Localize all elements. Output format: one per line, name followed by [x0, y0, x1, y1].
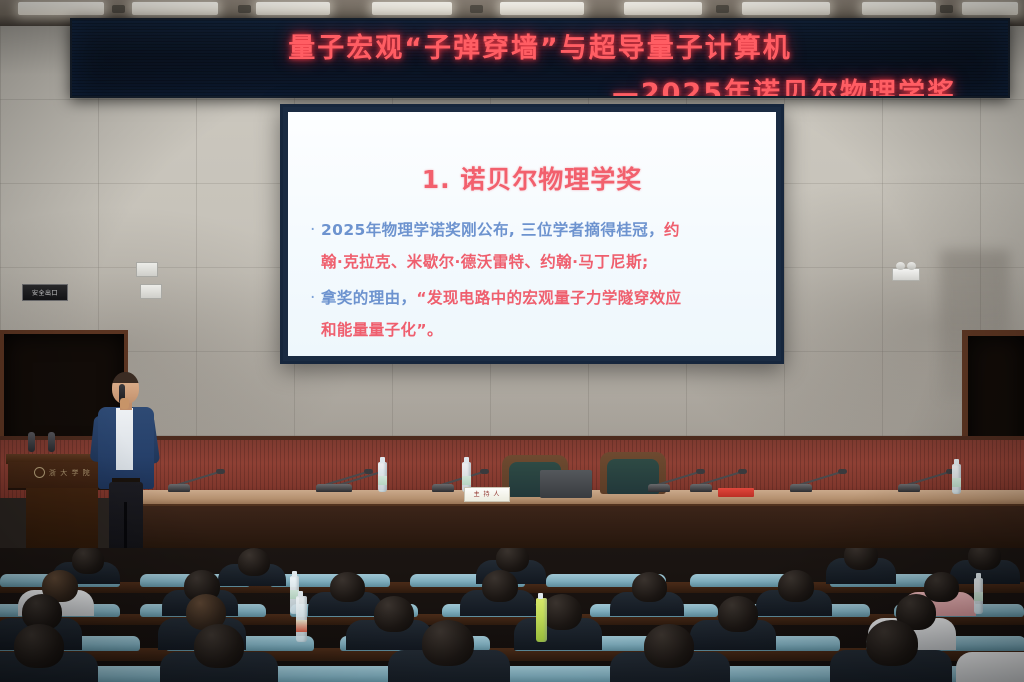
lecture-hall-screenshot: 安全出口 量子宏观“子弹穿墙”与超导量子计算机 —2025年诺贝尔物理学奖 1.… [0, 0, 1024, 682]
bullet-text: 2025年物理学诺奖刚公布, 三位学者摘得桂冠，约 [321, 215, 680, 245]
audience-head [194, 624, 244, 668]
ceiling-light [500, 2, 584, 15]
audience-head [374, 596, 414, 632]
exit-sign: 安全出口 [22, 284, 68, 301]
audience-head [968, 548, 1001, 570]
audience-head [482, 570, 518, 602]
audience-head [924, 572, 959, 602]
ceiling-light [372, 2, 452, 15]
slide-bullet: · 拿奖的理由，“发现电路中的宏观量子力学隧穿效应 [310, 283, 758, 313]
ceiling-light [624, 2, 702, 15]
bullet-segment: 约 [664, 221, 680, 239]
laptop[interactable] [540, 470, 592, 498]
banner-line-1: 量子宏观“子弹穿墙”与超导量子计算机 [72, 26, 1008, 65]
name-card-label: 主 持 人 [465, 488, 509, 501]
bullet-marker: · [310, 215, 321, 245]
lectern-microphone[interactable] [28, 432, 35, 452]
table-microphone[interactable] [790, 470, 848, 492]
ceiling-vent [112, 5, 125, 13]
bullet-segment: 翰·克拉克、米歇尔·德沃雷特、约翰·马丁尼斯; [321, 247, 649, 277]
ceiling-light [132, 2, 218, 15]
slide-body: · 2025年物理学诺奖刚公布, 三位学者摘得桂冠，约 翰·克拉克、米歇尔·德沃… [310, 215, 758, 347]
table-microphone[interactable] [898, 470, 956, 492]
table-microphone[interactable] [168, 466, 228, 492]
led-banner: 量子宏观“子弹穿墙”与超导量子计算机 —2025年诺贝尔物理学奖 [70, 18, 1010, 98]
audience-head [542, 594, 582, 630]
ceiling-light [862, 2, 936, 15]
banner-line-2: —2025年诺贝尔物理学奖 [72, 71, 1008, 98]
lectern-base [26, 488, 98, 554]
water-bottle [296, 596, 307, 642]
slide-bullet-continuation: 翰·克拉克、米歇尔·德沃雷特、约翰·马丁尼斯; [310, 247, 758, 277]
lectern-label: 浙 大 学 院 [49, 468, 91, 478]
audience-head [422, 620, 474, 666]
bullet-text: 拿奖的理由，“发现电路中的宏观量子力学隧穿效应 [321, 283, 681, 313]
lectern-microphone[interactable] [48, 432, 55, 452]
audience-head [496, 548, 529, 572]
bullet-segment: 拿奖的理由， [321, 289, 416, 307]
bullet-segment: “发现电路中的宏观量子力学隧穿效应 [416, 289, 681, 307]
head-table-front [140, 504, 1024, 554]
audience-head [866, 620, 918, 666]
slide-surface: 1. 诺贝尔物理学奖 · 2025年物理学诺奖刚公布, 三位学者摘得桂冠，约 翰… [288, 112, 776, 356]
presenter-hand [120, 398, 129, 409]
audience-head [644, 624, 694, 668]
ceiling-vent [716, 5, 729, 13]
audience-head [330, 572, 365, 602]
slide-title: 1. 诺贝尔物理学奖 [288, 160, 776, 196]
projection-screen: 1. 诺贝尔物理学奖 · 2025年物理学诺奖刚公布, 三位学者摘得桂冠，约 翰… [280, 104, 784, 364]
water-bottle [378, 462, 387, 492]
audience-head [72, 548, 104, 574]
ceiling-light [18, 2, 104, 15]
emergency-light [892, 268, 920, 281]
bullet-segment: 2025年物理学诺奖刚公布, 三位学者摘得桂冠， [321, 221, 664, 239]
ceiling-light [962, 2, 1018, 15]
ceiling-vent [238, 5, 251, 13]
audience-head [778, 570, 814, 602]
presenter [92, 372, 162, 562]
green-tea-bottle [536, 598, 547, 642]
ceiling-vent [940, 5, 953, 13]
audience-head [844, 548, 878, 570]
ceiling-light [256, 2, 330, 15]
exit-sign-label: 安全出口 [32, 288, 58, 297]
university-emblem-icon [34, 467, 45, 478]
audience-head [14, 624, 64, 668]
water-bottle [974, 578, 983, 614]
audience-head [632, 572, 667, 602]
ceiling-vent [470, 5, 483, 13]
bullet-segment: 和能量量子化”。 [321, 315, 443, 345]
bullet-marker: · [310, 283, 321, 313]
audience-head [718, 596, 758, 632]
ceiling-light [742, 2, 830, 15]
water-bottle [952, 464, 961, 494]
slide-bullet: · 2025年物理学诺奖刚公布, 三位学者摘得桂冠，约 [310, 215, 758, 245]
audience-member [956, 652, 1024, 682]
wall-switch-box[interactable] [140, 284, 162, 299]
audience-area [0, 548, 1024, 682]
presenter-shirt [116, 408, 133, 470]
slide-bullet-continuation: 和能量量子化”。 [310, 315, 758, 345]
red-folder[interactable] [718, 488, 754, 497]
audience-head [238, 548, 270, 576]
name-card: 主 持 人 [464, 487, 510, 502]
